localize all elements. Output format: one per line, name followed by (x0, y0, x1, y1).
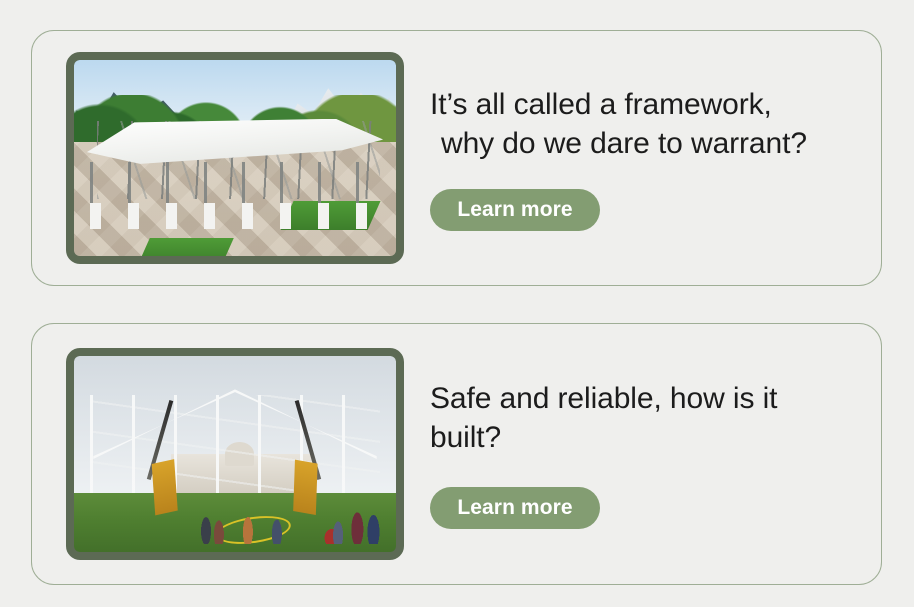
grass-patch-bottom (140, 238, 233, 256)
feature-card-1[interactable]: It’s all called a framework,why do we da… (31, 30, 882, 286)
tent-construction-photo-image[interactable] (66, 348, 404, 560)
card-1-body: It’s all called a framework,why do we da… (430, 85, 881, 231)
card-2-heading: Safe and reliable, how is itbuilt? (430, 379, 777, 457)
feature-card-2[interactable]: Safe and reliable, how is itbuilt? Learn… (31, 323, 882, 585)
tent-frame-shape (90, 395, 380, 493)
workers-group (74, 501, 396, 544)
card-2-body: Safe and reliable, how is itbuilt? Learn… (430, 379, 881, 529)
card-2-heading-line-2: built? (430, 421, 501, 454)
tent-construction-photo-thumb (74, 356, 396, 552)
card-1-heading-line-2: why do we dare to warrant? (430, 124, 807, 163)
card-2-heading-line-1: Safe and reliable, how is it (430, 382, 777, 415)
learn-more-button-card-2[interactable]: Learn more (430, 487, 600, 529)
card-1-heading-line-1: It’s all called a framework, (430, 88, 772, 121)
page-root: It’s all called a framework,why do we da… (0, 0, 914, 607)
marquee-frame-render-thumb (74, 60, 396, 256)
tent-base-blocks-shape (90, 203, 386, 228)
card-1-heading: It’s all called a framework,why do we da… (430, 85, 807, 163)
marquee-frame-render-image[interactable] (66, 52, 404, 264)
learn-more-button-card-1[interactable]: Learn more (430, 189, 600, 231)
